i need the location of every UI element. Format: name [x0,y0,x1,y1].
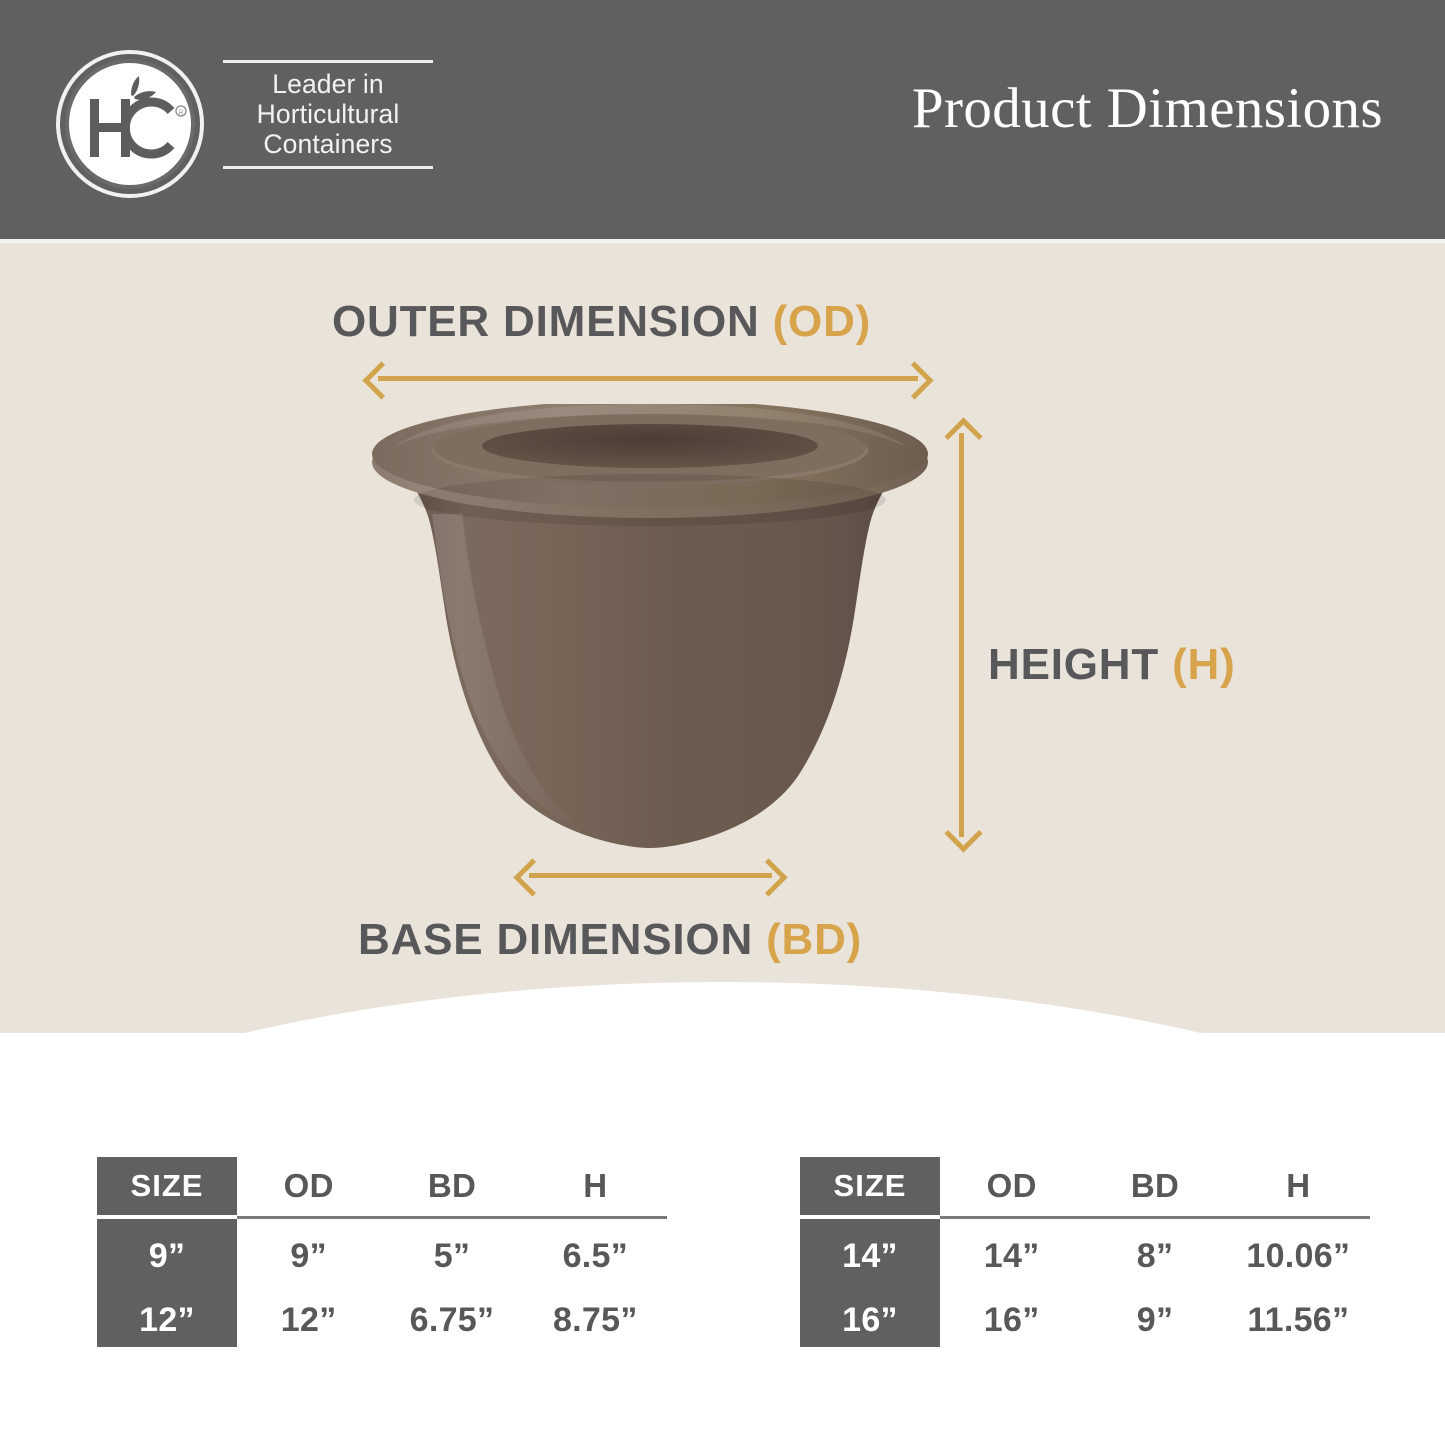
cell-bd: 9” [1083,1293,1226,1347]
cell-od: 9” [237,1229,380,1283]
outer-dimension-label: OUTER DIMENSION (OD) [332,297,871,347]
arrow-head-down-icon [944,814,982,852]
table-row-spacer [97,1219,667,1229]
size-table-right: SIZE OD BD H 14” 14” 8” 10.06” 16” 16” 9… [800,1157,1370,1347]
outer-dimension-arrow [368,363,928,393]
cell-od: 14” [940,1229,1083,1283]
table-row-spacer [97,1283,667,1293]
column-header-h: H [524,1157,667,1215]
table-header-rule [97,1215,667,1219]
table-row-spacer [800,1219,1370,1229]
cell-size: 16” [800,1293,940,1347]
cell-h: 8.75” [524,1293,667,1347]
column-header-bd: BD [1083,1157,1226,1215]
arrow-head-right-icon [749,858,787,896]
cell-bd: 5” [380,1229,523,1283]
base-dimension-label: BASE DIMENSION (BD) [358,915,862,965]
table-row: 16” 16” 9” 11.56” [800,1293,1370,1347]
column-header-size: SIZE [97,1157,237,1215]
cell-bd: 8” [1083,1229,1226,1283]
cell-od: 12” [237,1293,380,1347]
arrow-shaft [378,376,918,381]
cell-od: 16” [940,1293,1083,1347]
cell-bd: 6.75” [380,1293,523,1347]
arrow-head-right-icon [895,361,933,399]
table-header-row: SIZE OD BD H [97,1157,667,1215]
outer-dimension-label-abbr: (OD) [773,297,872,346]
height-label-main: HEIGHT [988,640,1159,689]
table-row: 12” 12” 6.75” 8.75” [97,1293,667,1347]
column-header-size: SIZE [800,1157,940,1215]
base-dimension-label-abbr: (BD) [766,915,862,964]
height-label: HEIGHT (H) [988,640,1236,690]
table-row: 14” 14” 8” 10.06” [800,1229,1370,1283]
base-dimension-arrow [519,860,782,890]
table-row: 9” 9” 5” 6.5” [97,1229,667,1283]
column-header-od: OD [940,1157,1083,1215]
base-dimension-label-main: BASE DIMENSION [358,915,753,964]
cell-size: 12” [97,1293,237,1347]
cell-h: 11.56” [1227,1293,1370,1347]
arrow-shaft [529,873,772,878]
cell-h: 10.06” [1227,1229,1370,1283]
table-row-spacer [800,1283,1370,1293]
height-arrow [946,423,976,847]
dimensions-diagram: OUTER DIMENSION (OD) [0,0,1445,1033]
cell-h: 6.5” [524,1229,667,1283]
column-header-bd: BD [380,1157,523,1215]
arrow-shaft [959,433,964,837]
table-header-row: SIZE OD BD H [800,1157,1370,1215]
outer-dimension-label-main: OUTER DIMENSION [332,297,760,346]
cell-size: 14” [800,1229,940,1283]
size-table-left: SIZE OD BD H 9” 9” 5” 6.5” 12” 12” 6.75”… [97,1157,667,1347]
table-header-rule [800,1215,1370,1219]
planter-pot-image [372,404,929,848]
cell-size: 9” [97,1229,237,1283]
column-header-h: H [1227,1157,1370,1215]
height-label-abbr: (H) [1172,640,1235,689]
column-header-od: OD [237,1157,380,1215]
